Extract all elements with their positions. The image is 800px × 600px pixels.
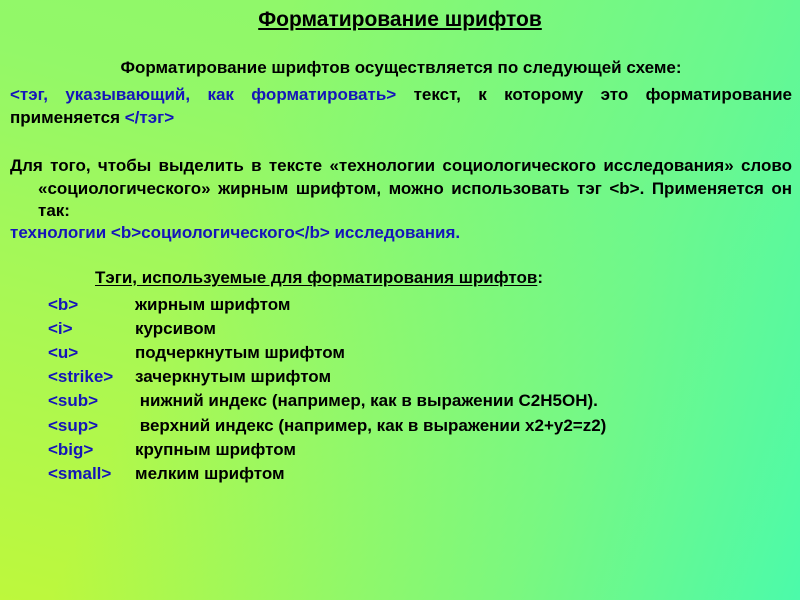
tag-list-heading-text: Тэги, используемые для форматирования шр…	[95, 268, 537, 287]
list-item: <small> мелким шрифтом	[48, 462, 792, 486]
tag-name: <strike>	[48, 365, 135, 389]
list-item: <big> крупным шрифтом	[48, 438, 792, 462]
tag-list-heading-colon: :	[537, 268, 543, 287]
spacer	[10, 245, 792, 267]
tag-description: нижний индекс (например, как в выражении…	[135, 389, 792, 413]
list-item: <u> подчеркнутым шрифтом	[48, 341, 792, 365]
tag-name: <sup>	[48, 414, 135, 438]
tag-name: <big>	[48, 438, 135, 462]
tag-name: <i>	[48, 317, 135, 341]
slide-canvas: Форматирование шрифтов Форматирование шр…	[0, 0, 800, 600]
tag-name: <b>	[48, 293, 135, 317]
lead-line: Форматирование шрифтов осуществляется по…	[10, 32, 792, 78]
spacer	[10, 129, 792, 155]
scheme-line: <тэг, указывающий, как форматировать> те…	[10, 84, 792, 129]
list-item: <i> курсивом	[48, 317, 792, 341]
tag-description: курсивом	[135, 317, 792, 341]
scheme-code-close: </тэг>	[125, 108, 174, 127]
list-item: <sup> верхний индекс (например, как в вы…	[48, 414, 792, 438]
tag-description: подчеркнутым шрифтом	[135, 341, 792, 365]
page-title: Форматирование шрифтов	[0, 0, 800, 32]
tag-description: верхний индекс (например, как в выражени…	[135, 414, 792, 438]
tag-description: зачеркнутым шрифтом	[135, 365, 792, 389]
list-item: <sub> нижний индекс (например, как в выр…	[48, 389, 792, 413]
tag-name: <u>	[48, 341, 135, 365]
example-code-line: технологии <b>социологического</b> иссле…	[10, 222, 792, 244]
list-item: <b> жирным шрифтом	[48, 293, 792, 317]
list-item: <strike> зачеркнутым шрифтом	[48, 365, 792, 389]
tag-description: жирным шрифтом	[135, 293, 792, 317]
tag-name: <small>	[48, 462, 135, 486]
explanation-paragraph: Для того, чтобы выделить в тексте «техно…	[10, 155, 792, 222]
tag-name: <sub>	[48, 389, 135, 413]
page-title-text: Форматирование шрифтов	[258, 8, 542, 31]
tag-description: крупным шрифтом	[135, 438, 792, 462]
tag-list-heading: Тэги, используемые для форматирования шр…	[10, 267, 792, 289]
tag-description: мелким шрифтом	[135, 462, 792, 486]
tag-list: <b> жирным шрифтом <i> курсивом <u> подч…	[10, 289, 792, 486]
scheme-code-open: <тэг, указывающий, как форматировать>	[10, 85, 396, 104]
slide-body: Форматирование шрифтов осуществляется по…	[0, 32, 800, 486]
